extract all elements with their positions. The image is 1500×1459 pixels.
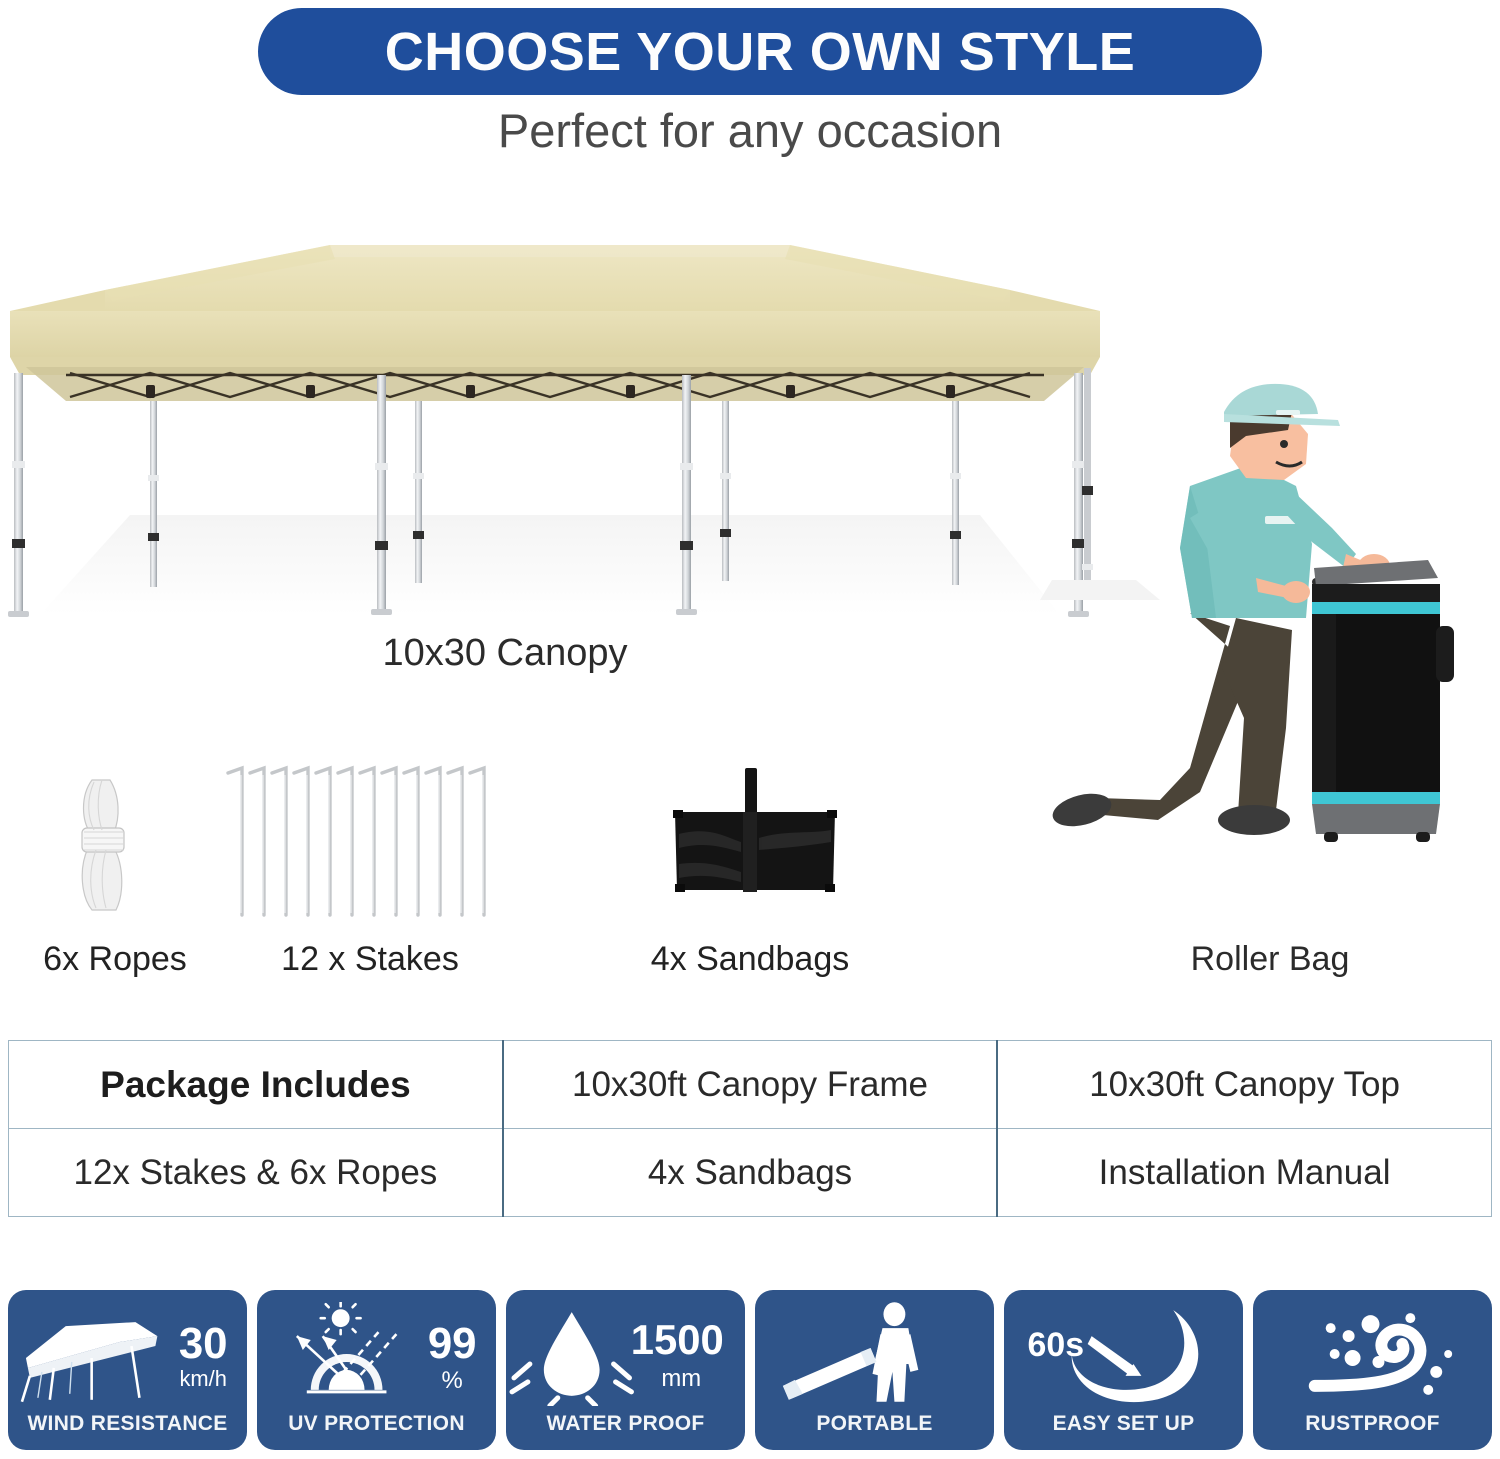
uv-sun-icon: 99 % [257,1302,496,1406]
stakes-label: 12 x Stakes [230,940,510,979]
header-banner: CHOOSE YOUR OWN STYLE [258,8,1262,95]
canopy-valance [10,311,1100,357]
table-cell-package-includes: Package Includes [9,1041,503,1129]
badge-value: 30 [179,1319,228,1368]
ropes-label: 6x Ropes [0,940,230,979]
sandbag-strap-top [745,768,757,816]
feature-badges: 30 km/h WIND RESISTANCE [8,1290,1492,1450]
package-includes-table: Package Includes 10x30ft Canopy Frame 10… [8,1040,1492,1217]
badge-unit: % [442,1367,463,1394]
bag-top-grey [1314,560,1438,586]
stakes-image [222,765,502,925]
clock-hand [1088,1336,1134,1374]
bag-teal-band-top [1312,602,1440,614]
ground-shadow [40,515,1060,615]
roller-bag [1312,560,1454,842]
canopy-icon: 30 km/h [8,1302,247,1406]
badge-value: 1500 [631,1316,724,1363]
badge-water-proof: 1500 mm WATER PROOF [506,1290,745,1450]
bag-base-grey [1312,804,1440,834]
badge-label: PORTABLE [755,1412,994,1436]
sandbags-image [665,768,845,918]
bag-top-band [1312,584,1440,602]
badge-unit: km/h [179,1366,226,1391]
badge-label: WIND RESISTANCE [8,1412,247,1436]
sandbag-center-seam [743,812,757,892]
roller-bag-caption: Roller Bag [1040,940,1500,979]
badge-unit: mm [661,1365,701,1392]
banner-title: CHOOSE YOUR OWN STYLE [385,21,1136,83]
person-carry-icon [755,1302,994,1406]
stakes-svg [222,765,502,925]
bag-teal-band-bottom [1312,792,1440,804]
ropes-image [58,770,168,920]
water-drop-icon: 1500 mm [506,1302,745,1406]
badge-easy-set-up: 60s EASY SET UP [1004,1290,1243,1450]
person-front-shoe [1218,805,1290,835]
badge-wind-resistance: 30 km/h WIND RESISTANCE [8,1290,247,1450]
person-hand-2 [1282,581,1310,603]
wind-swirl-icon [1253,1302,1492,1406]
person-back-shoe [1049,788,1114,832]
table-cell-canopy-frame: 10x30ft Canopy Frame [503,1041,997,1129]
canopy-caption: 10x30 Canopy [0,632,1010,675]
table-row: 12x Stakes & 6x Ropes 4x Sandbags Instal… [9,1129,1492,1217]
person-back-leg [1092,613,1252,820]
badge-portable: PORTABLE [755,1290,994,1450]
canopy-svg [0,215,1110,635]
badge-label: EASY SET UP [1004,1412,1243,1436]
bag-side-pocket [1436,626,1454,682]
ropes-svg [58,770,168,920]
badge-value: 99 [428,1319,477,1368]
bag-wheel-right [1416,832,1430,842]
sandbags-svg [665,768,845,918]
roller-bag-illustration [1040,368,1500,928]
badge-value: 60s [1028,1326,1084,1364]
person-front-leg [1222,618,1292,814]
table-cell-sandbags: 4x Sandbags [503,1129,997,1217]
person-roller-bag-svg [1040,368,1500,928]
canopy-illustration [0,215,1110,635]
table-cell-stakes-ropes: 12x Stakes & 6x Ropes [9,1129,503,1217]
badge-label: UV PROTECTION [257,1412,496,1436]
timer-swoosh-icon: 60s [1004,1302,1243,1406]
sandbags-label: 4x Sandbags [600,940,900,979]
person-eye [1280,440,1288,448]
badge-rustproof: RUSTPROOF [1253,1290,1492,1450]
bag-wheel-left [1324,832,1338,842]
badge-label: WATER PROOF [506,1412,745,1436]
background-pole [1040,368,1160,600]
person-cap-crown [1224,384,1318,416]
header-subtitle: Perfect for any occasion [0,103,1500,158]
badge-uv-protection: 99 % UV PROTECTION [257,1290,496,1450]
cap-stripe [1276,410,1300,415]
table-row: Package Includes 10x30ft Canopy Frame 10… [9,1041,1492,1129]
table-cell-manual: Installation Manual [997,1129,1491,1217]
product-infographic: CHOOSE YOUR OWN STYLE Perfect for any oc… [0,0,1500,1459]
table-cell-canopy-top: 10x30ft Canopy Top [997,1041,1491,1129]
badge-label: RUSTPROOF [1253,1412,1492,1436]
